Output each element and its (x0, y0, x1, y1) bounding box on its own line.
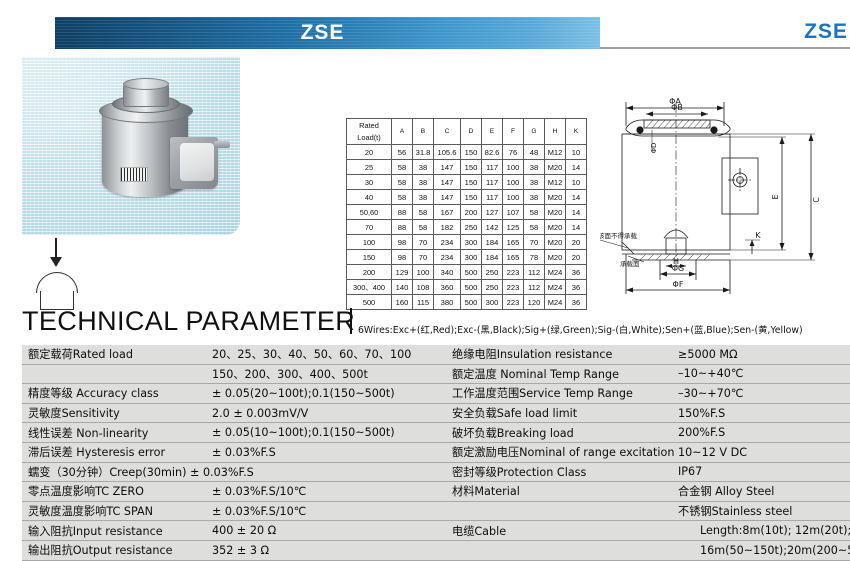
dimension-table-row: 150987023430018416578M2020 (347, 250, 587, 265)
dim-cell-h: M12 (545, 145, 566, 160)
dim-cell-d: 250 (461, 220, 482, 235)
dim-cell-h: M20 (545, 160, 566, 175)
dim-header-rated-load: Rated Load(t) (347, 119, 392, 145)
load-cell-nameplate (180, 143, 214, 181)
dim-cell-h: M24 (545, 280, 566, 295)
spec-left-label: 灵敏度温度影响TC SPAN (22, 501, 206, 521)
dim-cell-rated-load-t: 200 (347, 265, 392, 280)
dim-cell-f: 165 (503, 235, 524, 250)
dim-cell-b: 58 (413, 220, 434, 235)
dim-cell-rated-load-t: 150 (347, 250, 392, 265)
dim-cell-d: 500 (461, 280, 482, 295)
dim-cell-d: 150 (461, 190, 482, 205)
dim-cell-k: 10 (566, 145, 587, 160)
spec-row: 滞后误差 Hysteresis error± 0.03%F.S额定激励电压Nom… (22, 442, 850, 462)
down-arrow-head-icon (50, 257, 62, 267)
dim-header-a: A (392, 119, 413, 145)
spec-right-label: 安全负载Safe load limit (444, 403, 674, 423)
dim-cell-d: 150 (461, 145, 482, 160)
dim-cell-f: 165 (503, 250, 524, 265)
spec-row: 零点温度影响TC ZERO± 0.03%F.S/10℃材料Material合金钢… (22, 482, 850, 502)
dim-cell-c: 360 (434, 280, 461, 295)
dim-cell-d: 300 (461, 250, 482, 265)
dim-cell-h: M20 (545, 220, 566, 235)
spec-left-value: ± 0.03%F.S/10℃ (206, 501, 444, 521)
wire-color-note: 6Wires:Exc+(红,Red);Exc-(黑,Black);Sig+(绿,… (358, 322, 803, 336)
dim-cell-a: 129 (392, 265, 413, 280)
spec-left-value: 20、25、30、40、50、60、70、100 (206, 345, 444, 365)
dim-cell-h: M20 (545, 250, 566, 265)
dim-header-g: G (524, 119, 545, 145)
spec-right-label: 密封等级Protection Class (444, 462, 674, 482)
spec-left-value: ± 0.03%F.S/10℃ (206, 482, 444, 502)
dim-cell-g: 70 (524, 235, 545, 250)
dim-header-h: H (545, 119, 566, 145)
dim-cell-rated-load-t: 30 (347, 175, 392, 190)
dim-cell-b: 108 (413, 280, 434, 295)
spec-left-label: 输入阻抗Input resistance (22, 521, 206, 541)
spec-right-label: 额定温度 Nominal Temp Range (444, 364, 674, 384)
spec-right-value: –10~+40℃ (674, 364, 850, 384)
spec-right-value: 16m(50~150t);20m(200~500t) (674, 540, 850, 560)
drawing-svg: ΦA ΦB H ΦG ΦF K C E ΦD 该面不得承载 承载面 (600, 52, 850, 300)
dim-cell-k: 20 (566, 250, 587, 265)
dim-cell-a: 88 (392, 205, 413, 220)
header-model-label: ZSE (804, 20, 848, 44)
dim-cell-c: 234 (434, 235, 461, 250)
dimension-table-row: 70885818225014212558M2014 (347, 220, 587, 235)
spec-left-label: 蠕变（30分钟）Creep(30min) ± 0.03%F.S (22, 462, 444, 482)
dimension-table-row: 205631.8105.615082.67648M1210 (347, 145, 587, 160)
dim-cell-rated-load-t: 70 (347, 220, 392, 235)
dim-cell-h: M20 (545, 235, 566, 250)
spec-right-value: –30~+70℃ (674, 384, 850, 404)
dim-cell-f: 100 (503, 175, 524, 190)
spec-left-label: 灵敏度Sensitivity (22, 403, 206, 423)
spec-left-value: 2.0 ± 0.003mV/V (206, 403, 444, 423)
dim-cell-f: 100 (503, 190, 524, 205)
specification-table-body: 额定载荷Rated load20、25、30、40、50、60、70、100绝缘… (22, 345, 850, 561)
product-photo (22, 57, 240, 235)
dim-cell-e: 117 (482, 190, 503, 205)
dim-cell-k: 14 (566, 160, 587, 175)
page-title: TECHNICAL PARAMETER (22, 306, 355, 337)
spec-left-label: 精度等级 Accuracy class (22, 384, 206, 404)
load-cell-cable (214, 141, 230, 148)
dim-cell-d: 300 (461, 235, 482, 250)
dim-header-b: B (413, 119, 434, 145)
dim-cell-b: 70 (413, 235, 434, 250)
banner-title: ZSE (301, 21, 345, 45)
dim-cell-k: 14 (566, 220, 587, 235)
dim-cell-d: 150 (461, 175, 482, 190)
dim-cell-f: 107 (503, 205, 524, 220)
load-button-dome-shape (36, 272, 78, 293)
dim-cell-d: 200 (461, 205, 482, 220)
spec-left-value: ± 0.05(10~100t);0.1(150~500t) (206, 423, 444, 443)
dim-cell-b: 70 (413, 250, 434, 265)
spec-right-label (444, 501, 674, 521)
dim-cell-e: 142 (482, 220, 503, 235)
label-phi-d: ΦD (650, 143, 658, 154)
dim-cell-f: 125 (503, 220, 524, 235)
spec-left-value: 150、200、300、400、500t (206, 364, 444, 384)
dim-cell-g: 38 (524, 160, 545, 175)
dim-cell-a: 58 (392, 175, 413, 190)
spec-right-value: 合金钢 Alloy Steel (674, 482, 850, 502)
dim-cell-a: 56 (392, 145, 413, 160)
spec-right-value: IP67 (674, 462, 850, 482)
dimension-table-row: 50,60885816720012710758M2014 (347, 205, 587, 220)
dim-cell-h: M20 (545, 205, 566, 220)
dim-cell-b: 38 (413, 175, 434, 190)
dim-cell-rated-load-t: 40 (347, 190, 392, 205)
dim-cell-c: 182 (434, 220, 461, 235)
dim-arrowheads (626, 106, 814, 293)
dim-cell-k: 36 (566, 265, 587, 280)
spec-right-value: 200%F.S (674, 423, 850, 443)
dim-cell-g: 78 (524, 250, 545, 265)
dim-cell-c: 147 (434, 190, 461, 205)
dim-cell-c: 340 (434, 265, 461, 280)
spec-right-label: 绝缘电阻Insulation resistance (444, 345, 674, 365)
spec-right-label: 破坏负载Breaking load (444, 423, 674, 443)
dim-cell-g: 58 (524, 220, 545, 235)
label-e: E (771, 194, 780, 199)
load-cell-illustration (98, 79, 224, 209)
technical-parameter-header: TECHNICAL PARAMETER 6Wires:Exc+(红,Red);E… (22, 306, 850, 340)
spec-left-value: 352 ± 3 Ω (206, 540, 444, 560)
dim-cell-e: 127 (482, 205, 503, 220)
engineering-drawing: ΦA ΦB H ΦG ΦF K C E ΦD 该面不得承载 承载面 (600, 52, 850, 300)
dim-cell-c: 147 (434, 175, 461, 190)
dimension-table-row: 30583814715011710038M1210 (347, 175, 587, 190)
dim-cell-a: 58 (392, 160, 413, 175)
spec-right-value: 10~12 V DC (674, 442, 850, 462)
dim-cell-e: 117 (482, 175, 503, 190)
dim-cell-h: M20 (545, 190, 566, 205)
dimension-table-row: 40583814715011710038M2014 (347, 190, 587, 205)
dim-cell-d: 150 (461, 160, 482, 175)
dim-cell-d: 500 (461, 265, 482, 280)
dim-cell-e: 250 (482, 280, 503, 295)
spec-left-label: 零点温度影响TC ZERO (22, 482, 206, 502)
specification-table: 额定载荷Rated load20、25、30、40、50、60、70、100绝缘… (22, 344, 850, 561)
header-divider-rule (600, 47, 850, 49)
spec-row: 灵敏度Sensitivity2.0 ± 0.003mV/V安全负载Safe lo… (22, 403, 850, 423)
spec-right-value: 150%F.S (674, 403, 850, 423)
load-direction-symbol (30, 238, 82, 292)
dim-cell-f: 76 (503, 145, 524, 160)
load-cell-barcode-label (120, 167, 148, 182)
datasheet-page: ZSE ZSE Rated Load(t) A (0, 0, 850, 546)
dimension-table-row: 200129100340500250223112M2436 (347, 265, 587, 280)
dim-cell-g: 112 (524, 280, 545, 295)
spec-row: 输入阻抗Input resistance400 ± 20 Ω电缆CableLen… (22, 521, 850, 541)
o-ring-right (711, 127, 717, 133)
dim-header-k: K (566, 119, 587, 145)
title-divider (350, 308, 352, 334)
dim-header-d: D (461, 119, 482, 145)
label-k: K (755, 231, 761, 240)
dim-cell-f: 223 (503, 265, 524, 280)
spec-right-label: 额定激励电压Nominal of range excitation (444, 442, 674, 462)
spec-right-label: 电缆Cable (444, 521, 674, 541)
dim-cell-e: 184 (482, 250, 503, 265)
dim-header-f: F (503, 119, 524, 145)
dim-cell-b: 31.8 (413, 145, 434, 160)
spec-right-label (444, 540, 674, 560)
banner-bar: ZSE (55, 17, 600, 49)
dim-cell-rated-load-t: 50,60 (347, 205, 392, 220)
note-load-surface: 承载面 (620, 259, 640, 268)
label-phi-g: ΦG (672, 264, 685, 273)
spec-right-value: 不锈钢Stainless steel (674, 501, 850, 521)
spec-row: 输出阻抗Output resistance352 ± 3 Ω16m(50~150… (22, 540, 850, 560)
dim-cell-k: 20 (566, 235, 587, 250)
spec-left-value: 400 ± 20 Ω (206, 521, 444, 541)
dim-cell-k: 14 (566, 205, 587, 220)
dim-cell-f: 100 (503, 160, 524, 175)
spec-right-label: 工作温度范围Service Temp Range (444, 384, 674, 404)
dim-cell-g: 48 (524, 145, 545, 160)
dim-cell-rated-load-t: 100 (347, 235, 392, 250)
load-cell-boss-top (123, 78, 169, 90)
spec-left-label: 额定载荷Rated load (22, 345, 206, 365)
dim-cell-g: 58 (524, 205, 545, 220)
dim-cell-c: 105.6 (434, 145, 461, 160)
dim-cell-g: 38 (524, 190, 545, 205)
spec-left-label (22, 364, 206, 384)
spec-left-label: 滞后误差 Hysteresis error (22, 442, 206, 462)
dimension-table-row: 100987023430018416570M2020 (347, 235, 587, 250)
dim-cell-rated-load-t: 20 (347, 145, 392, 160)
header-banner: ZSE ZSE (0, 17, 850, 51)
dim-cell-rated-load-t: 25 (347, 160, 392, 175)
dim-cell-k: 14 (566, 190, 587, 205)
dimension-table-body: 205631.8105.615082.67648M121025583814715… (347, 145, 587, 310)
spec-row: 蠕变（30分钟）Creep(30min) ± 0.03%F.S密封等级Prote… (22, 462, 850, 482)
dim-cell-a: 140 (392, 280, 413, 295)
dim-cell-a: 88 (392, 220, 413, 235)
spec-row: 额定载荷Rated load20、25、30、40、50、60、70、100绝缘… (22, 345, 850, 365)
spec-right-value: ≥5000 MΩ (674, 345, 850, 365)
dimension-table-row: 25583814715011710038M2014 (347, 160, 587, 175)
dim-cell-e: 117 (482, 160, 503, 175)
dim-header-c: C (434, 119, 461, 145)
dim-cell-rated-load-t: 300、400 (347, 280, 392, 295)
dim-cell-g: 38 (524, 175, 545, 190)
dim-cell-a: 98 (392, 235, 413, 250)
dim-cell-a: 98 (392, 250, 413, 265)
dim-cell-h: M12 (545, 175, 566, 190)
dim-cell-b: 38 (413, 190, 434, 205)
spec-row: 精度等级 Accuracy class± 0.05(20~100t);0.1(1… (22, 384, 850, 404)
dim-cell-e: 184 (482, 235, 503, 250)
spec-left-label: 线性误差 Non-linearity (22, 423, 206, 443)
dim-cell-c: 147 (434, 160, 461, 175)
dim-cell-a: 58 (392, 190, 413, 205)
o-ring-left (637, 127, 643, 133)
spec-row: 线性误差 Non-linearity± 0.05(10~100t);0.1(15… (22, 423, 850, 443)
dim-cell-c: 167 (434, 205, 461, 220)
dim-cell-k: 36 (566, 280, 587, 295)
dimension-table-header-row: Rated Load(t) A B C D E F G H K (347, 119, 587, 145)
dimension-table-row: 300、400140108360500250223112M2436 (347, 280, 587, 295)
label-c: C (812, 197, 821, 203)
dim-cell-g: 112 (524, 265, 545, 280)
spec-left-value: ± 0.05(20~100t);0.1(150~500t) (206, 384, 444, 404)
spec-row: 灵敏度温度影响TC SPAN± 0.03%F.S/10℃不锈钢Stainless… (22, 501, 850, 521)
spec-row: 150、200、300、400、500t额定温度 Nominal Temp Ra… (22, 364, 850, 384)
spec-left-value: ± 0.03%F.S (206, 442, 444, 462)
spec-left-label: 输出阻抗Output resistance (22, 540, 206, 560)
dim-cell-b: 100 (413, 265, 434, 280)
dimension-table: Rated Load(t) A B C D E F G H K 205631.8… (346, 118, 587, 310)
dim-cell-h: M24 (545, 265, 566, 280)
dim-cell-b: 58 (413, 205, 434, 220)
spec-right-label: 材料Material (444, 482, 674, 502)
dim-cell-e: 82.6 (482, 145, 503, 160)
label-phi-b: ΦB (671, 103, 683, 112)
note-no-load-surface: 该面不得承载 (600, 231, 638, 240)
dim-header-e: E (482, 119, 503, 145)
dim-cell-f: 223 (503, 280, 524, 295)
dim-cell-b: 38 (413, 160, 434, 175)
dim-cell-k: 10 (566, 175, 587, 190)
dim-cell-e: 250 (482, 265, 503, 280)
spec-right-value: Length:8m(10t); 12m(20t); 14m(25~40t); (674, 521, 850, 541)
label-phi-f: ΦF (673, 280, 684, 289)
dim-cell-c: 234 (434, 250, 461, 265)
